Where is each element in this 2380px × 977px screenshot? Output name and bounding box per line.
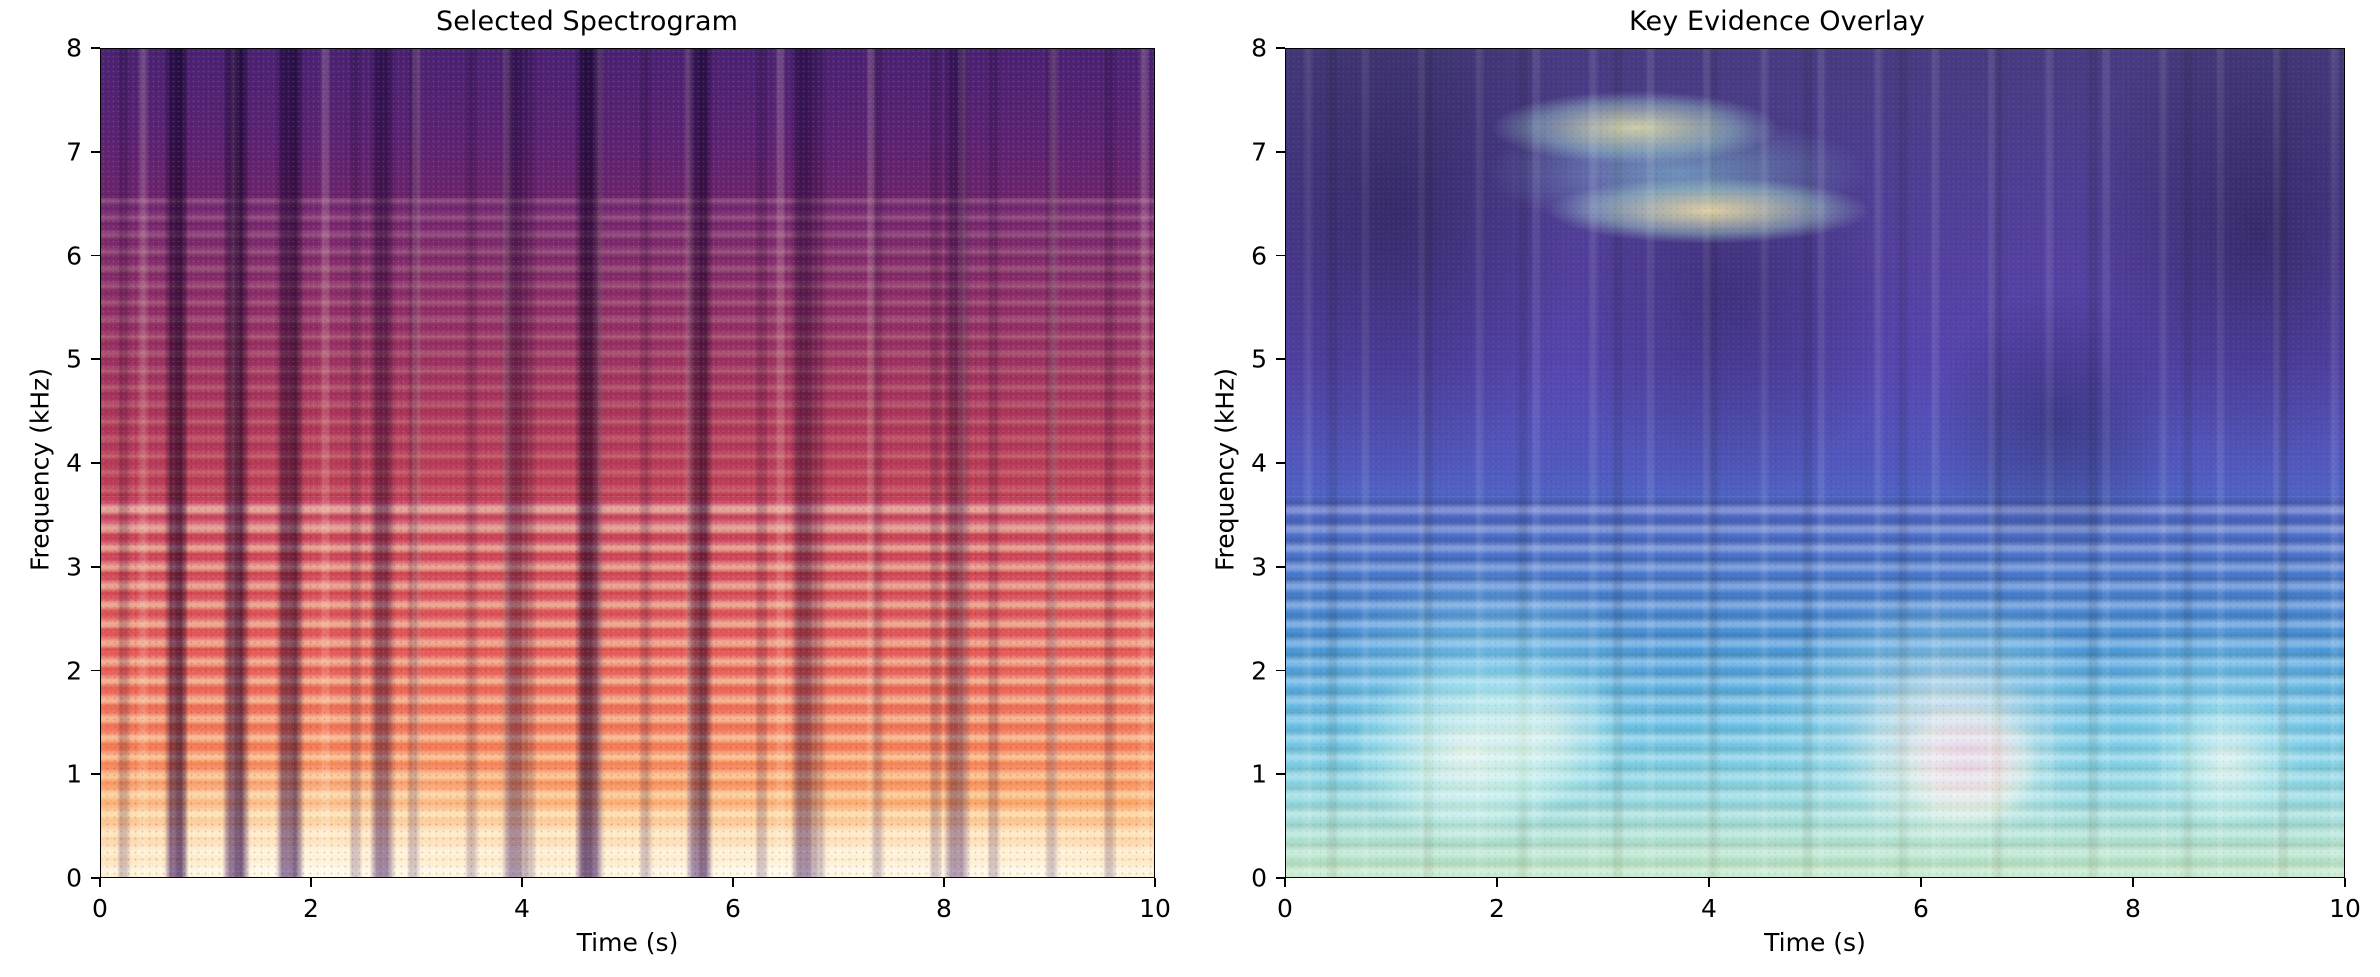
y-tick-label-right-8: 8 — [1225, 34, 1267, 63]
x-tick-left-10 — [1154, 878, 1156, 887]
y-tick-left-6 — [91, 255, 100, 257]
y-tick-right-5 — [1276, 358, 1285, 360]
x-tick-right-0 — [1284, 878, 1286, 887]
y-tick-label-left-2: 2 — [40, 656, 82, 685]
y-tick-right-4 — [1276, 462, 1285, 464]
overlay-noise-layer — [1286, 49, 2344, 877]
x-tick-right-6 — [1920, 878, 1922, 887]
y-tick-label-left-7: 7 — [40, 137, 82, 166]
page-title: Selected Spectrogram — [0, 6, 1182, 37]
x-tick-label-left-4: 4 — [514, 894, 530, 923]
x-tick-right-4 — [1708, 878, 1710, 887]
x-tick-left-8 — [943, 878, 945, 887]
spectral-noise-layer — [101, 49, 1154, 877]
y-tick-left-2 — [91, 670, 100, 672]
panel-key-evidence-overlay: Key Evidence Overlay 0246810012345678 Ti… — [1190, 0, 2380, 977]
x-axis-title-evidence: Time (s) — [1285, 928, 2345, 957]
y-tick-right-2 — [1276, 670, 1285, 672]
x-tick-label-left-2: 2 — [303, 894, 319, 923]
x-tick-label-right-6: 6 — [1913, 894, 1929, 923]
y-tick-right-6 — [1276, 255, 1285, 257]
y-tick-label-right-7: 7 — [1225, 137, 1267, 166]
x-axis-title: Time (s) — [100, 928, 1155, 957]
x-tick-label-left-10: 10 — [1139, 894, 1171, 923]
y-tick-left-4 — [91, 462, 100, 464]
panel-selected-spectrogram: Selected Spectrogram 0246810012345678 Ti… — [0, 0, 1190, 977]
x-tick-right-2 — [1496, 878, 1498, 887]
y-tick-right-8 — [1276, 47, 1285, 49]
axes-key-evidence-overlay[interactable] — [1285, 48, 2345, 878]
x-tick-left-0 — [99, 878, 101, 887]
x-tick-left-2 — [310, 878, 312, 887]
y-tick-label-right-2: 2 — [1225, 656, 1267, 685]
y-tick-label-left-6: 6 — [40, 241, 82, 270]
x-tick-left-6 — [732, 878, 734, 887]
x-tick-right-8 — [2132, 878, 2134, 887]
x-tick-label-left-8: 8 — [936, 894, 952, 923]
x-tick-label-right-0: 0 — [1277, 894, 1293, 923]
y-tick-left-3 — [91, 566, 100, 568]
y-tick-right-1 — [1276, 773, 1285, 775]
y-tick-left-7 — [91, 151, 100, 153]
figure-canvas: Selected Spectrogram 0246810012345678 Ti… — [0, 0, 2380, 977]
y-tick-left-0 — [91, 877, 100, 879]
axes-selected-spectrogram[interactable] — [100, 48, 1155, 878]
y-tick-left-5 — [91, 358, 100, 360]
y-tick-label-right-1: 1 — [1225, 760, 1267, 789]
y-tick-right-0 — [1276, 877, 1285, 879]
y-tick-label-left-0: 0 — [40, 864, 82, 893]
x-tick-label-left-6: 6 — [725, 894, 741, 923]
x-tick-right-10 — [2344, 878, 2346, 887]
y-tick-right-7 — [1276, 151, 1285, 153]
x-tick-label-right-10: 10 — [2329, 894, 2361, 923]
y-tick-label-right-6: 6 — [1225, 241, 1267, 270]
y-tick-left-8 — [91, 47, 100, 49]
panel-title-evidence: Key Evidence Overlay — [1182, 6, 2372, 37]
x-tick-left-4 — [521, 878, 523, 887]
y-tick-left-1 — [91, 773, 100, 775]
y-axis-title: Frequency (kHz) — [26, 350, 55, 590]
y-tick-label-left-8: 8 — [40, 34, 82, 63]
x-tick-label-right-4: 4 — [1701, 894, 1717, 923]
x-tick-label-right-8: 8 — [2125, 894, 2141, 923]
x-tick-label-right-2: 2 — [1489, 894, 1505, 923]
y-tick-label-left-1: 1 — [40, 760, 82, 789]
x-tick-label-left-0: 0 — [92, 894, 108, 923]
y-tick-label-right-0: 0 — [1225, 864, 1267, 893]
y-axis-title-evidence: Frequency (kHz) — [1211, 350, 1240, 590]
y-tick-right-3 — [1276, 566, 1285, 568]
